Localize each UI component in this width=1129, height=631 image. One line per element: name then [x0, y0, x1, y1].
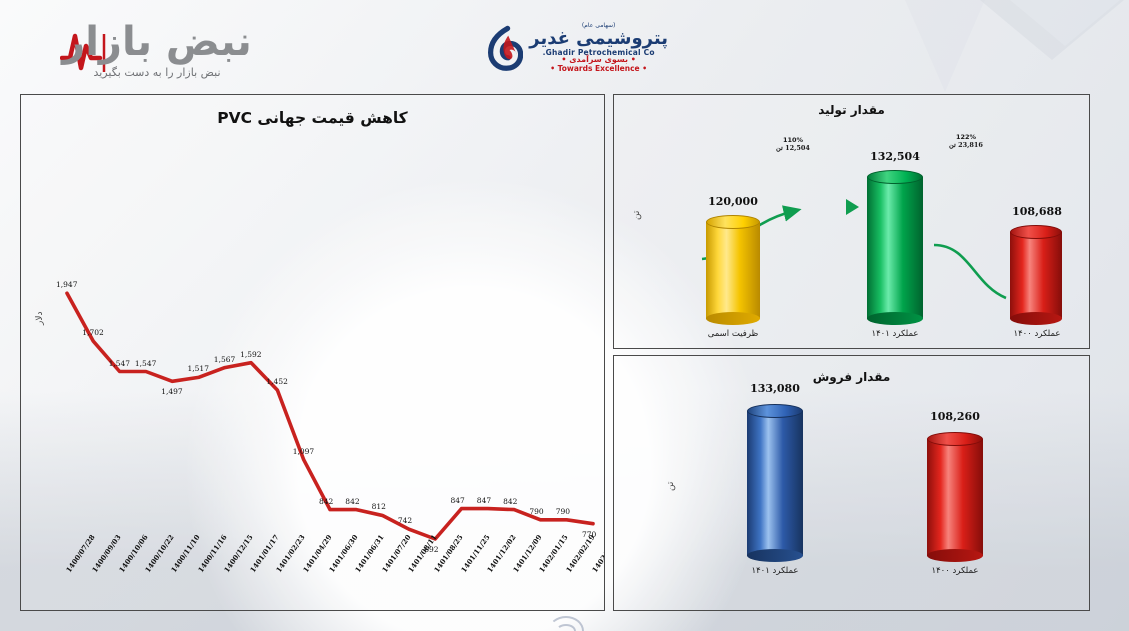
bar-category-nominal-capacity: ظرفیت اسمی	[693, 329, 773, 339]
pvc-point-label: 842	[319, 497, 333, 506]
pvc-point-label: 1,547	[135, 359, 156, 368]
bar-category-sales-1400: عملکرد ۱۴۰۰	[913, 566, 997, 576]
pulse-bazaar-wordmark: نبض بازار	[52, 22, 262, 62]
bar-production-1401	[867, 170, 923, 325]
bar-category-production-1400: عملکرد ۱۴۰۰	[996, 329, 1078, 339]
bar-value-sales-1401: 133,080	[733, 382, 817, 395]
pvc-price-line	[21, 95, 605, 611]
pvc-point-label: 1,517	[188, 364, 209, 373]
annotation-capacity-growth: 110% 12,504 تن	[758, 136, 828, 152]
pvc-point-label: 790	[556, 507, 570, 516]
annotation-amount-1: 12,504 تن	[758, 144, 828, 152]
bar-category-sales-1401: عملکرد ۱۴۰۱	[733, 566, 817, 576]
pvc-point-label: 1,567	[214, 355, 235, 364]
bar-category-production-1401: عملکرد ۱۴۰۱	[854, 329, 936, 339]
sales-chart-title: مقدار فروش	[614, 370, 1089, 384]
ghadir-fa-name: پتروشیمی غدیر	[529, 30, 668, 49]
bar-sales-1400	[927, 432, 983, 562]
pvc-point-label: 1,547	[109, 359, 130, 368]
ghadir-logo-text: (سهامی عام) پتروشیمی غدیر Ghadir Petroch…	[529, 23, 668, 72]
pvc-price-chart-panel: کاهش قیمت جهانی PVC دلار 1,9471,7021,547…	[20, 94, 605, 611]
ghadir-petrochemical-logo[interactable]: (سهامی عام) پتروشیمی غدیر Ghadir Petroch…	[488, 8, 668, 88]
header-bar: نبض بازار نبض بازار را به دست بگیرید (سه…	[0, 0, 1129, 92]
arrow-head-left	[846, 199, 859, 215]
annotation-percent-2: 122%	[930, 133, 1002, 141]
pvc-point-label: 1,702	[82, 328, 103, 337]
pvc-point-label: 847	[477, 496, 491, 505]
pvc-point-label: 742	[398, 516, 412, 525]
pvc-point-label: 847	[451, 496, 465, 505]
pvc-point-label: 842	[503, 497, 517, 506]
pvc-point-label: 1,497	[161, 387, 182, 396]
pvc-point-label: 812	[372, 502, 386, 511]
pvc-point-label: 790	[529, 507, 543, 516]
bar-value-production-1401: 132,504	[854, 150, 936, 163]
bar-value-production-1400: 108,688	[996, 205, 1078, 218]
pvc-point-label: 1,592	[240, 350, 261, 359]
sales-yaxis-label: تن	[666, 482, 676, 491]
flame-drop-icon	[488, 15, 523, 81]
bar-sales-1401	[747, 404, 803, 562]
bar-production-1400	[1010, 225, 1062, 325]
arrow-1400-to-1401	[934, 245, 1006, 298]
bar-nominal-capacity	[706, 215, 760, 325]
annotation-amount-2: 23,816 تن	[930, 141, 1002, 149]
bar-value-nominal-capacity: 120,000	[693, 195, 773, 208]
pvc-point-label: 1,097	[293, 447, 314, 456]
bar-value-sales-1400: 108,260	[913, 410, 997, 423]
pulse-bazaar-logo[interactable]: نبض بازار نبض بازار را به دست بگیرید	[52, 22, 262, 88]
production-chart-panel: مقدار تولید تن 120,000 ظرفیت اسمی 132,50…	[613, 94, 1090, 349]
sales-chart-panel: مقدار فروش تن 133,080 عملکرد ۱۴۰۱ 108,26…	[613, 355, 1090, 611]
pvc-point-label: 1,452	[266, 377, 287, 386]
annotation-yoy-growth: 122% 23,816 تن	[930, 133, 1002, 149]
annotation-percent-1: 110%	[758, 136, 828, 144]
ghadir-en-slogan: • Towards Excellence •	[529, 65, 668, 73]
pvc-point-label: 842	[345, 497, 359, 506]
pvc-point-label: 1,947	[56, 280, 77, 289]
